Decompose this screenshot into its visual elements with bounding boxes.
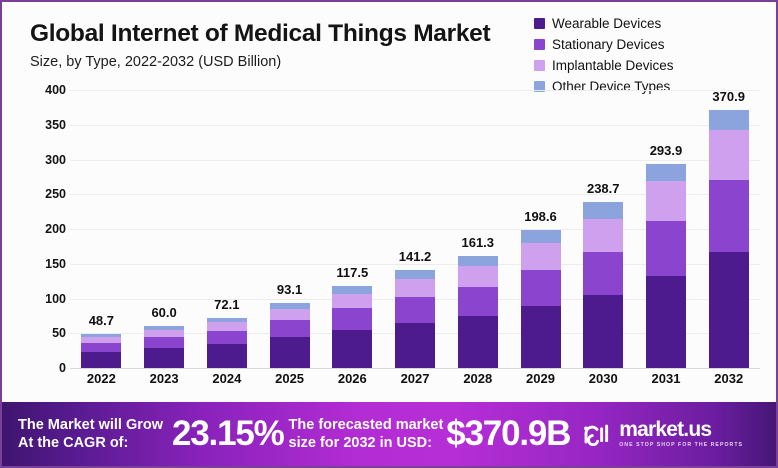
bar-stack[interactable]: [81, 334, 121, 368]
logo-wordmark: market.us: [619, 419, 743, 440]
legend-swatch-icon: [534, 60, 545, 71]
bar-stack[interactable]: [458, 256, 498, 368]
bar-column[interactable]: 48.7: [70, 90, 133, 368]
bar-value-label: 370.9: [712, 89, 745, 104]
legend-item-label: Stationary Devices: [552, 37, 665, 52]
bar-segment[interactable]: [709, 110, 749, 130]
bar-stack[interactable]: [646, 164, 686, 368]
bar-segment[interactable]: [144, 337, 184, 348]
bar-segment[interactable]: [458, 266, 498, 287]
x-axis-tick-label: 2032: [697, 371, 760, 386]
cagr-caption-line1: The Market will Grow: [18, 417, 163, 433]
forecast-caption-line1: The forecasted market: [289, 417, 444, 433]
summary-banner: The Market will Grow At the CAGR of: 23.…: [2, 402, 778, 466]
bar-column[interactable]: 370.9: [697, 90, 760, 368]
bar-column[interactable]: 238.7: [572, 90, 635, 368]
bar-segment[interactable]: [583, 295, 623, 368]
chart-header: Global Internet of Medical Things Market…: [30, 20, 550, 70]
y-axis-tick-label: 250: [20, 187, 66, 201]
bar-column[interactable]: 60.0: [133, 90, 196, 368]
cagr-caption: The Market will Grow At the CAGR of:: [18, 416, 163, 452]
x-axis-tick-label: 2024: [195, 371, 258, 386]
bar-segment[interactable]: [583, 202, 623, 219]
y-axis: 050100150200250300350400: [20, 90, 66, 368]
bar-segment[interactable]: [521, 306, 561, 368]
bar-segment[interactable]: [332, 330, 372, 368]
bar-stack[interactable]: [583, 202, 623, 368]
chart-legend: Wearable DevicesStationary DevicesImplan…: [534, 14, 762, 96]
bar-segment[interactable]: [395, 270, 435, 279]
legend-item[interactable]: Implantable Devices: [534, 56, 674, 75]
x-axis-tick-label: 2028: [446, 371, 509, 386]
x-axis-tick-label: 2026: [321, 371, 384, 386]
bar-segment[interactable]: [458, 256, 498, 266]
legend-item[interactable]: Wearable Devices: [534, 14, 661, 33]
bar-column[interactable]: 198.6: [509, 90, 572, 368]
y-axis-tick-label: 350: [20, 118, 66, 132]
bar-segment[interactable]: [521, 243, 561, 270]
bar-segment[interactable]: [395, 279, 435, 297]
bar-segment[interactable]: [207, 344, 247, 368]
bar-value-label: 198.6: [524, 209, 557, 224]
bar-segment[interactable]: [144, 330, 184, 337]
y-axis-tick-label: 150: [20, 257, 66, 271]
bar-segment[interactable]: [646, 164, 686, 182]
bar-segment[interactable]: [270, 320, 310, 337]
bar-segment[interactable]: [332, 308, 372, 329]
forecast-value: $370.9B: [446, 414, 570, 454]
y-axis-tick-label: 400: [20, 83, 66, 97]
bar-value-label: 238.7: [587, 181, 620, 196]
bar-segment[interactable]: [270, 337, 310, 368]
bar-segment[interactable]: [144, 348, 184, 368]
bar-value-label: 141.2: [399, 249, 432, 264]
bar-column[interactable]: 93.1: [258, 90, 321, 368]
bar-segment[interactable]: [709, 252, 749, 368]
bar-segment[interactable]: [709, 180, 749, 252]
bar-segment[interactable]: [521, 230, 561, 243]
chart-infographic: Global Internet of Medical Things Market…: [0, 0, 778, 468]
bar-value-label: 293.9: [650, 143, 683, 158]
legend-item-label: Wearable Devices: [552, 16, 661, 31]
bar-segment[interactable]: [207, 322, 247, 331]
bar-segment[interactable]: [81, 352, 121, 368]
x-axis-tick-label: 2025: [258, 371, 321, 386]
bar-value-label: 60.0: [151, 305, 176, 320]
x-axis: 2022202320242025202620272028202920302031…: [70, 371, 760, 386]
bar-segment[interactable]: [583, 252, 623, 295]
legend-swatch-icon: [534, 18, 545, 29]
bar-segment[interactable]: [646, 181, 686, 220]
bar-stack[interactable]: [521, 230, 561, 368]
bar-segment[interactable]: [521, 270, 561, 306]
x-axis-tick-label: 2031: [635, 371, 698, 386]
bar-segment[interactable]: [395, 297, 435, 323]
bar-series-container: 48.760.072.193.1117.5141.2161.3198.6238.…: [70, 90, 760, 368]
bar-value-label: 161.3: [461, 235, 494, 250]
bar-column[interactable]: 293.9: [635, 90, 698, 368]
y-axis-tick-label: 200: [20, 222, 66, 236]
cagr-caption-line2: At the CAGR of:: [18, 435, 128, 451]
bar-segment[interactable]: [270, 309, 310, 320]
bar-segment[interactable]: [646, 221, 686, 276]
bar-segment[interactable]: [646, 276, 686, 368]
bar-value-label: 48.7: [89, 313, 114, 328]
bar-segment[interactable]: [583, 219, 623, 252]
forecast-caption-line2: size for 2032 in USD:: [289, 435, 432, 451]
legend-swatch-icon: [534, 39, 545, 50]
y-axis-tick-label: 50: [20, 326, 66, 340]
forecast-caption: The forecasted market size for 2032 in U…: [289, 416, 444, 452]
bar-segment[interactable]: [332, 286, 372, 293]
logo-tagline: ONE STOP SHOP FOR THE REPORTS: [619, 443, 743, 448]
bar-segment[interactable]: [332, 294, 372, 309]
bar-segment[interactable]: [207, 331, 247, 344]
bar-value-label: 72.1: [214, 297, 239, 312]
x-axis-tick-label: 2027: [384, 371, 447, 386]
bar-segment[interactable]: [458, 316, 498, 368]
legend-item-label: Implantable Devices: [552, 58, 674, 73]
bar-column[interactable]: 141.2: [384, 90, 447, 368]
cagr-value: 23.15%: [172, 414, 284, 454]
bar-column[interactable]: 72.1: [195, 90, 258, 368]
bar-column[interactable]: 161.3: [446, 90, 509, 368]
bar-stack[interactable]: [709, 110, 749, 368]
bar-stack[interactable]: [144, 326, 184, 368]
grid-line: [70, 368, 760, 369]
chart-subtitle: Size, by Type, 2022-2032 (USD Billion): [30, 54, 550, 70]
legend-item[interactable]: Stationary Devices: [534, 35, 665, 54]
bar-segment[interactable]: [458, 287, 498, 316]
bar-value-label: 93.1: [277, 282, 302, 297]
page-title: Global Internet of Medical Things Market: [30, 20, 550, 47]
bar-segment[interactable]: [395, 323, 435, 368]
bar-segment[interactable]: [709, 130, 749, 180]
market-us-logo: market.us ONE STOP SHOP FOR THE REPORTS: [583, 419, 743, 448]
bar-column[interactable]: 117.5: [321, 90, 384, 368]
y-axis-tick-label: 100: [20, 292, 66, 306]
bar-stack[interactable]: [270, 303, 310, 368]
x-axis-tick-label: 2023: [133, 371, 196, 386]
bar-value-label: 117.5: [336, 265, 368, 280]
market-us-logo-icon: [583, 422, 613, 446]
x-axis-tick-label: 2030: [572, 371, 635, 386]
bar-segment[interactable]: [81, 343, 121, 352]
bar-stack[interactable]: [395, 270, 435, 368]
plot-area: 050100150200250300350400 48.760.072.193.…: [20, 90, 764, 390]
bar-stack[interactable]: [332, 286, 372, 368]
x-axis-tick-label: 2022: [70, 371, 133, 386]
y-axis-tick-label: 300: [20, 153, 66, 167]
y-axis-tick-label: 0: [20, 361, 66, 375]
x-axis-tick-label: 2029: [509, 371, 572, 386]
logo-text: market.us ONE STOP SHOP FOR THE REPORTS: [619, 419, 743, 448]
bar-stack[interactable]: [207, 318, 247, 368]
